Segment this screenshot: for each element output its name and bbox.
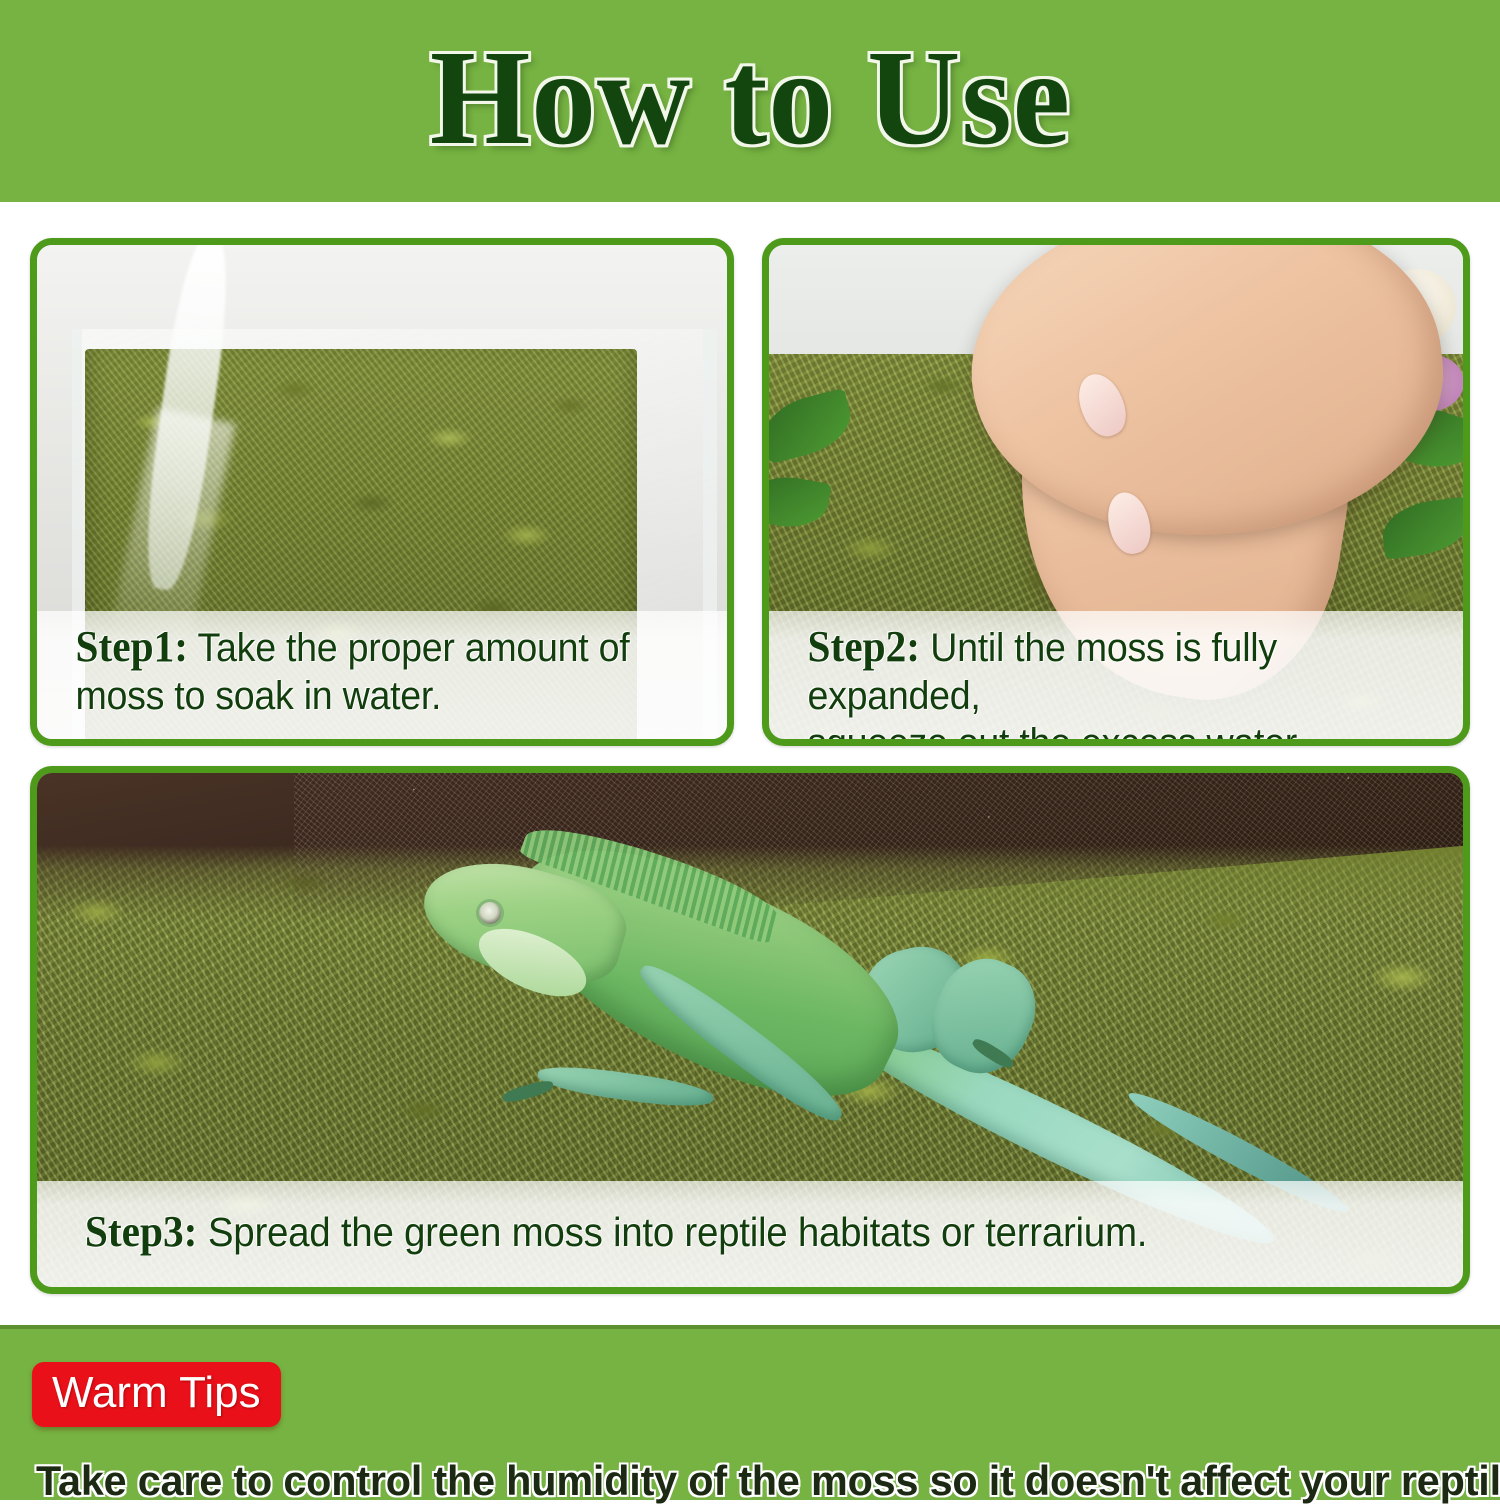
step-1-panel: Step1: Take the proper amount of moss to… xyxy=(30,238,734,746)
warm-tips-badge-label: Warm Tips xyxy=(52,1368,261,1417)
step-2-panel: Step2: Until the moss is fully expanded,… xyxy=(762,238,1470,746)
step-3-caption-text: Step3: Spread the green moss into reptil… xyxy=(51,1206,1147,1258)
lizard-foot xyxy=(501,1078,555,1105)
step-3-body: Spread the green moss into reptile habit… xyxy=(208,1209,1147,1255)
warm-tips-band: Warm Tips Take care to control the humid… xyxy=(0,1325,1500,1500)
warm-tips-badge: Warm Tips xyxy=(32,1362,281,1427)
step-3-caption: Step3: Spread the green moss into reptil… xyxy=(37,1181,1463,1287)
step-3-label: Step3: xyxy=(85,1207,198,1256)
header-band: How to Use xyxy=(0,0,1500,202)
step-3-panel: Step3: Spread the green moss into reptil… xyxy=(30,766,1470,1294)
lizard xyxy=(422,845,1306,1225)
step-2-label: Step2: xyxy=(807,622,920,671)
step-2-caption: Step2: Until the moss is fully expanded,… xyxy=(769,611,1463,739)
step-2-caption-text: Step2: Until the moss is fully expanded,… xyxy=(783,621,1409,746)
lizard-fore-leg xyxy=(536,1061,715,1112)
step-1-caption-text: Step1: Take the proper amount of moss to… xyxy=(51,621,673,720)
step-1-caption: Step1: Take the proper amount of moss to… xyxy=(37,611,727,739)
page-title: How to Use xyxy=(429,30,1070,166)
step-1-label: Step1: xyxy=(75,622,188,671)
infographic-page: How to Use Step1: Take the proper amount… xyxy=(0,0,1500,1500)
warm-tips-text: Take care to control the humidity of the… xyxy=(36,1457,1500,1505)
